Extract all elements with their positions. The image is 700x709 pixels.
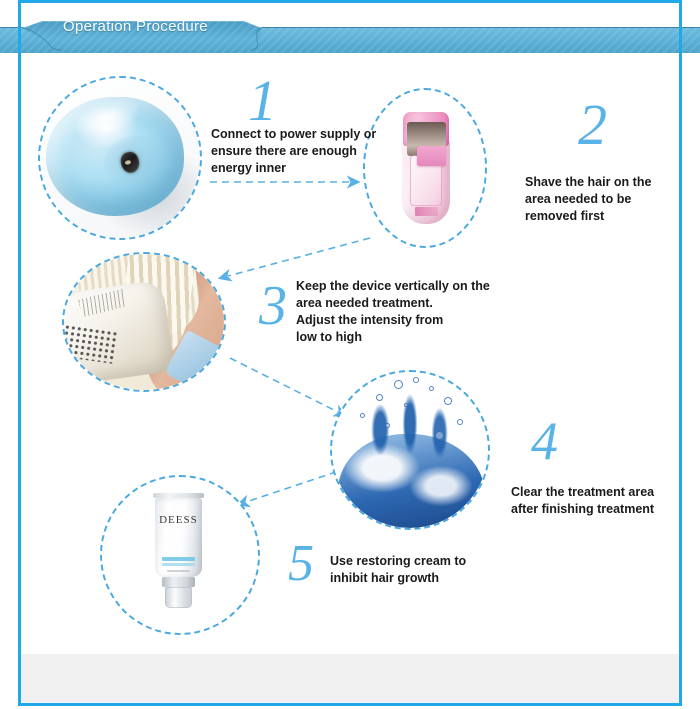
caption-line-1: Clear the treatment area (511, 484, 691, 501)
cream-tube-photo: DEESS (100, 475, 260, 635)
caption-line-1: Keep the device vertically on the (296, 278, 496, 295)
caption-line-4: low to high (296, 329, 496, 346)
caption-line-1: Shave the hair on the (525, 174, 685, 191)
step-caption-3: Keep the device vertically on thearea ne… (296, 278, 496, 346)
step-caption-1: Connect to power supply orensure there a… (211, 126, 381, 177)
step-number-2: 2 (578, 96, 607, 154)
caption-line-2: ensure there are enough (211, 143, 381, 160)
step-number-4: 4 (531, 414, 558, 468)
step-number-1: 1 (248, 72, 277, 130)
banner-title: Operation Procedure (63, 18, 208, 35)
caption-line-2: area needed to be (525, 191, 685, 208)
device-on-skin-image (64, 254, 224, 390)
caption-line-3: energy inner (211, 160, 381, 177)
step-number-5: 5 (288, 538, 314, 590)
caption-line-2: inhibit hair growth (330, 570, 490, 587)
caption-line-3: Adjust the intensity from (296, 312, 496, 329)
device-on-skin-photo (62, 252, 226, 392)
caption-line-2: area needed treatment. (296, 295, 496, 312)
pink-shaver-image (365, 90, 485, 246)
step-caption-4: Clear the treatment areaafter finishing … (511, 484, 691, 518)
cream-tube-image: DEESS (102, 477, 258, 633)
caption-line-3: removed first (525, 208, 685, 225)
step-caption-2: Shave the hair on thearea needed to bere… (525, 174, 685, 225)
footer-strip (21, 654, 679, 703)
water-splash-photo (330, 370, 490, 530)
caption-line-1: Connect to power supply or (211, 126, 381, 143)
operation-procedure-page: Operation Procedure (0, 0, 700, 709)
pink-shaver-photo (363, 88, 487, 248)
blue-device-image (40, 78, 200, 238)
blue-device-photo (38, 76, 202, 240)
caption-line-1: Use restoring cream to (330, 553, 490, 570)
caption-line-2: after finishing treatment (511, 501, 691, 518)
water-splash-image (332, 372, 488, 528)
step-number-3: 3 (259, 278, 287, 334)
step-caption-5: Use restoring cream toinhibit hair growt… (330, 553, 490, 587)
cream-brand-label: DEESS (155, 514, 202, 526)
